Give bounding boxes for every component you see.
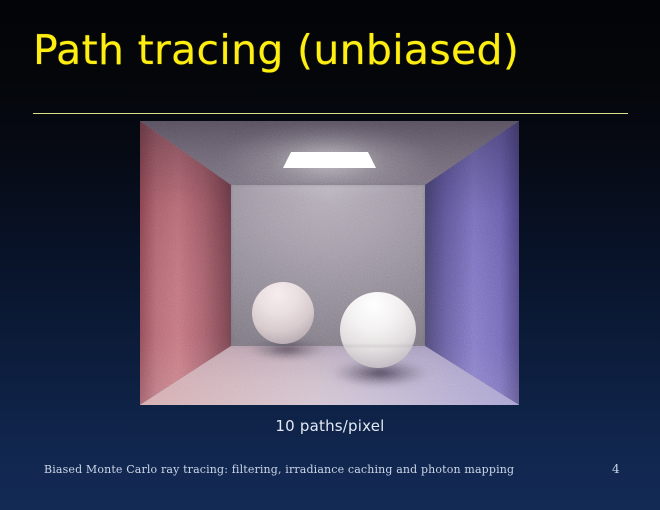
cornell-box-figure: [140, 121, 519, 405]
presentation-slide: Path tracing (unbiased): [0, 0, 660, 510]
cornell-box-render: [140, 121, 519, 405]
footer-title: Biased Monte Carlo ray tracing: filterin…: [44, 463, 514, 476]
page-title: Path tracing (unbiased): [33, 26, 519, 74]
title-divider: [33, 113, 628, 114]
figure-caption: 10 paths/pixel: [0, 417, 660, 435]
monte-carlo-noise: [140, 121, 519, 405]
page-number: 4: [612, 462, 620, 476]
